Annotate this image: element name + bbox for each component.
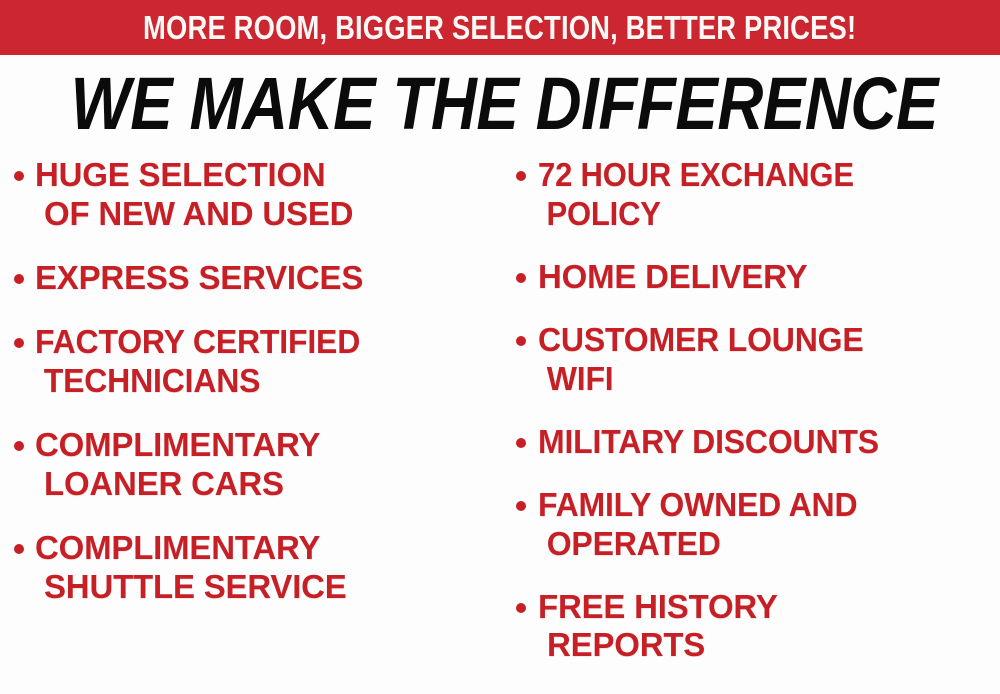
- list-item-label: HUGE SELECTION OF NEW AND USED: [35, 156, 353, 234]
- list-item: HUGE SELECTION OF NEW AND USED: [14, 156, 496, 234]
- bullet-dot-icon: [14, 338, 24, 348]
- list-item-label: MILITARY DISCOUNTS: [538, 423, 879, 462]
- list-item: COMPLIMENTARY SHUTTLE SERVICE: [14, 529, 496, 607]
- list-item-label: FACTORY CERTIFIED TECHNICIANS: [35, 323, 360, 401]
- top-banner: MORE ROOM, BIGGER SELECTION, BETTER PRIC…: [0, 0, 1000, 55]
- list-item-label: CUSTOMER LOUNGE WIFI: [538, 321, 864, 399]
- list-item: MILITARY DISCOUNTS: [516, 423, 1000, 462]
- bullet-dot-icon: [516, 273, 526, 283]
- promotional-poster: MORE ROOM, BIGGER SELECTION, BETTER PRIC…: [0, 0, 1000, 694]
- bullet-dot-icon: [516, 603, 526, 613]
- list-item: FACTORY CERTIFIED TECHNICIANS: [14, 323, 496, 401]
- list-item: EXPRESS SERVICES: [14, 259, 496, 298]
- features-column-left: HUGE SELECTION OF NEW AND USED EXPRESS S…: [0, 156, 500, 631]
- bullet-dot-icon: [14, 544, 24, 554]
- list-item-label: FREE HISTORY REPORTS: [538, 588, 778, 666]
- list-item-label: EXPRESS SERVICES: [35, 259, 363, 298]
- list-item-label: COMPLIMENTARY LOANER CARS: [35, 426, 320, 504]
- top-banner-text: MORE ROOM, BIGGER SELECTION, BETTER PRIC…: [143, 11, 856, 44]
- list-item: HOME DELIVERY: [516, 258, 1000, 297]
- list-item: CUSTOMER LOUNGE WIFI: [516, 321, 1000, 399]
- list-item-label: FAMILY OWNED AND OPERATED: [538, 486, 857, 564]
- bullet-dot-icon: [516, 336, 526, 346]
- bullet-dot-icon: [14, 441, 24, 451]
- bullet-dot-icon: [14, 171, 24, 181]
- list-item: COMPLIMENTARY LOANER CARS: [14, 426, 496, 504]
- list-item: 72 HOUR EXCHANGE POLICY: [516, 156, 1000, 234]
- features-columns: HUGE SELECTION OF NEW AND USED EXPRESS S…: [0, 156, 1000, 694]
- page-title-text: WE MAKE THE DIFFERENCE: [71, 66, 938, 141]
- list-item-label: 72 HOUR EXCHANGE POLICY: [538, 156, 854, 234]
- list-item-label: HOME DELIVERY: [538, 258, 807, 297]
- bullet-dot-icon: [516, 438, 526, 448]
- list-item: FREE HISTORY REPORTS: [516, 588, 1000, 666]
- features-column-right: 72 HOUR EXCHANGE POLICY HOME DELIVERY CU…: [500, 156, 1000, 689]
- page-title: WE MAKE THE DIFFERENCE: [0, 66, 1000, 141]
- bullet-dot-icon: [516, 501, 526, 511]
- list-item-label: COMPLIMENTARY SHUTTLE SERVICE: [35, 529, 347, 607]
- bullet-dot-icon: [14, 274, 24, 284]
- bullet-dot-icon: [516, 171, 526, 181]
- list-item: FAMILY OWNED AND OPERATED: [516, 486, 1000, 564]
